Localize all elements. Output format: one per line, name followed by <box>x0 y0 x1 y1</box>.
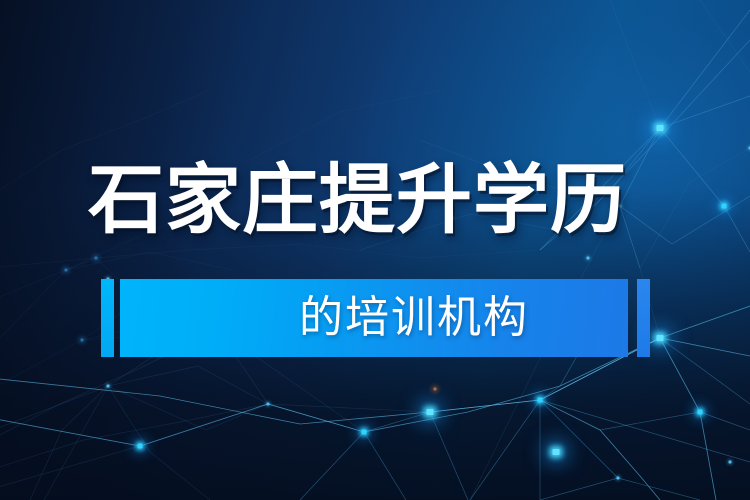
banner-subtitle: 的培训机构 <box>299 296 529 340</box>
network-node <box>553 449 560 455</box>
network-node <box>107 385 110 388</box>
network-node <box>538 398 543 403</box>
network-node <box>722 204 727 209</box>
subtitle-bar-group: 的培训机构 <box>0 279 750 357</box>
subtitle-bar: 的培训机构 <box>120 279 628 357</box>
subtitle-bar-tick-right <box>637 279 650 357</box>
network-node <box>267 403 270 406</box>
network-node <box>138 444 143 449</box>
promo-banner: 石家庄提升学历 的培训机构 <box>0 0 750 500</box>
network-node <box>95 257 98 260</box>
network-node <box>698 410 703 415</box>
banner-headline: 石家庄提升学历 <box>88 162 627 238</box>
network-node <box>65 269 68 272</box>
network-node <box>729 461 732 464</box>
network-node <box>434 388 437 391</box>
network-node <box>587 257 590 260</box>
network-node <box>427 409 434 415</box>
network-node <box>657 125 664 131</box>
network-node <box>362 430 367 435</box>
network-lines-graphic <box>0 0 750 500</box>
network-node <box>617 477 620 480</box>
subtitle-bar-tick-left <box>101 279 114 357</box>
